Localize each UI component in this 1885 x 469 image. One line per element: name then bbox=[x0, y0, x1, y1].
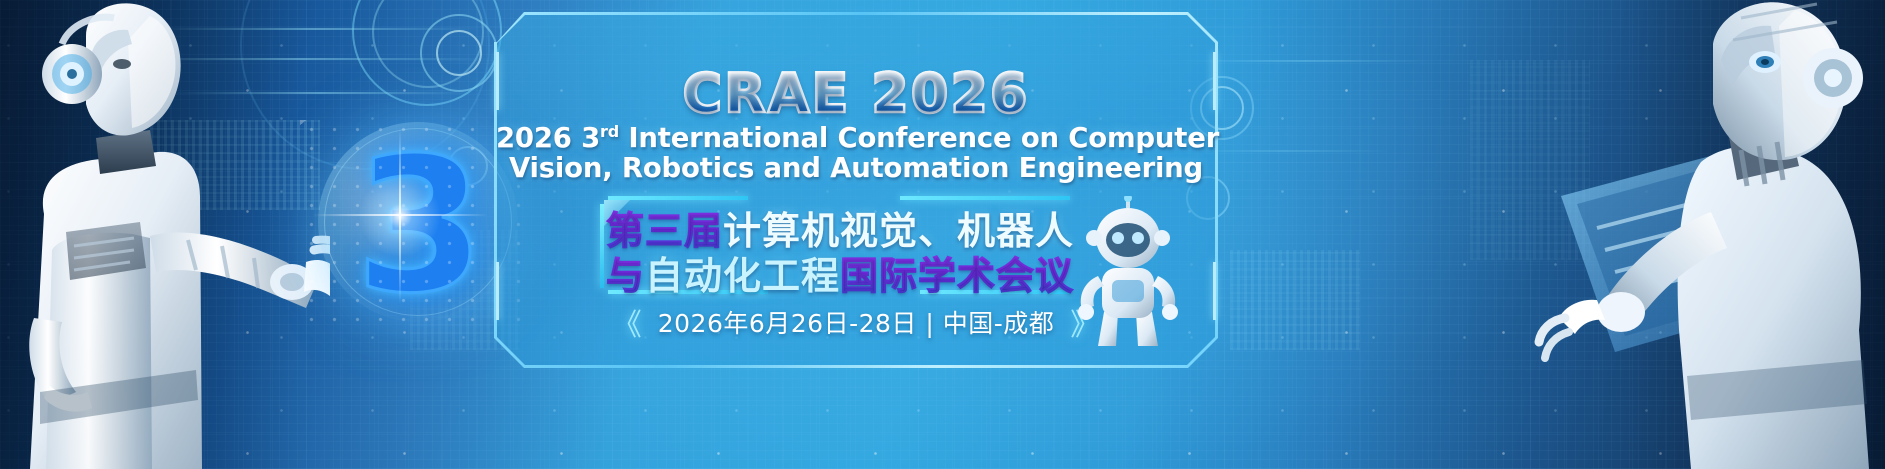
conference-banner: 3 bbox=[0, 0, 1885, 469]
english-title-line-2: Vision, Robotics and Automation Engineer… bbox=[496, 152, 1216, 184]
robot-humanoid-right bbox=[1465, 0, 1885, 469]
ordinal-suffix: rd bbox=[600, 122, 619, 141]
robot-mascot-small bbox=[1068, 196, 1188, 351]
english-title-suffix: International Conference on Computer bbox=[619, 122, 1219, 154]
english-title-line-1: 2026 3rd International Conference on Com… bbox=[496, 122, 1216, 154]
light-flare bbox=[352, 168, 448, 264]
chinese-field-label: 自动化工程 bbox=[645, 254, 840, 298]
chinese-conjunction: 与 bbox=[606, 254, 645, 298]
english-title-prefix: 2026 3 bbox=[496, 122, 600, 154]
chinese-conference-label: 国际学术会议 bbox=[840, 254, 1074, 298]
date-and-location: 2026年6月26日-28日 | 中国-成都 bbox=[658, 304, 1055, 340]
chevron-left-icon: 《 bbox=[612, 300, 642, 344]
chinese-title-line-2: 与自动化工程国际学术会议 bbox=[600, 245, 1080, 300]
robot-humanoid-left bbox=[0, 0, 330, 469]
conference-acronym-title: CRAE 2026 bbox=[496, 62, 1216, 125]
